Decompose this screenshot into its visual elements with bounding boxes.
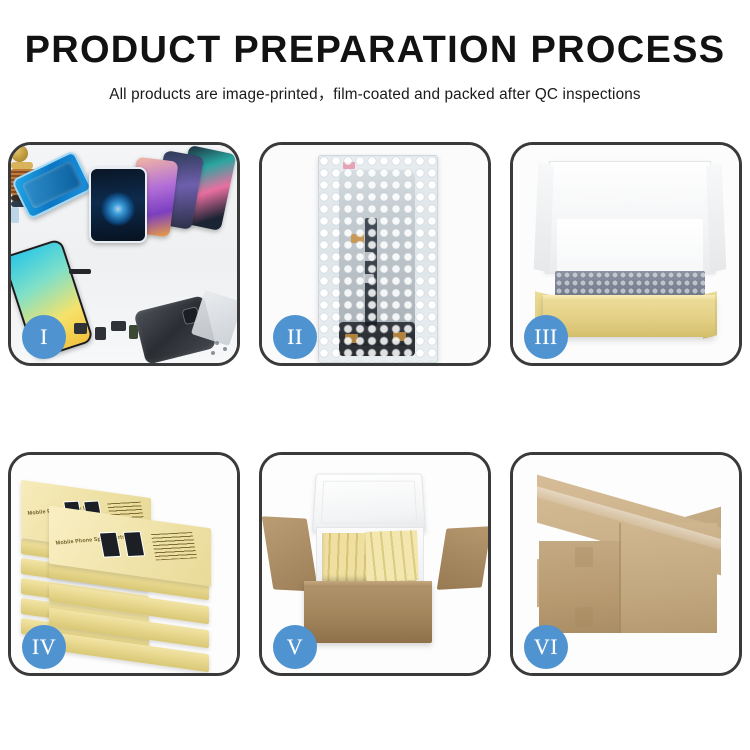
- carton-front-panel: [304, 581, 432, 643]
- carton-flap-mark-top: [575, 547, 593, 567]
- box-thumbnail-front-2: [123, 531, 145, 557]
- step-badge-1: I: [22, 315, 66, 359]
- step-badge-5: V: [273, 625, 317, 669]
- screen-flex-cable: [365, 218, 377, 326]
- bubble-wrap-bag: [318, 155, 438, 363]
- screw-2: [223, 347, 227, 351]
- screen-connector-1: [363, 252, 374, 261]
- spare-part-bar: [69, 269, 91, 274]
- page-header: PRODUCT PREPARATION PROCESS All products…: [0, 0, 750, 104]
- screen-connector-2: [363, 274, 374, 283]
- inner-boxes-row-2: [365, 530, 419, 582]
- step-badge-6: VI: [524, 625, 568, 669]
- step-badge-3: III: [524, 315, 568, 359]
- wrapped-screen-assembly: [339, 170, 415, 346]
- process-step-card-4[interactable]: Mobile Phone Spare Parts Mobile Phone Sp…: [8, 452, 240, 676]
- process-step-card-3[interactable]: III: [510, 142, 742, 366]
- box-spec-lines-front: [151, 532, 197, 560]
- process-step-card-1[interactable]: I: [8, 142, 240, 366]
- carton-corner-seam: [619, 523, 621, 633]
- kraft-box-base: [543, 295, 715, 337]
- spare-part-chip-3: [111, 321, 126, 331]
- process-steps-grid: I II: [8, 142, 742, 676]
- process-step-card-5[interactable]: V: [259, 452, 491, 676]
- spare-part-flex-cable-1: [11, 162, 33, 169]
- page-title: PRODUCT PREPARATION PROCESS: [0, 31, 750, 69]
- process-step-card-6[interactable]: VI: [510, 452, 742, 676]
- screw-3: [211, 351, 215, 355]
- spare-part-chip-2: [95, 327, 106, 340]
- styrofoam-lid: [312, 474, 426, 533]
- spare-part-speaker-coil: [11, 145, 28, 162]
- step-badge-4: IV: [22, 625, 66, 669]
- page-subtitle: All products are image-printed，film-coat…: [0, 69, 750, 104]
- copper-tape-1: [351, 234, 364, 243]
- screw-1: [215, 341, 219, 345]
- carton-flap-right: [437, 526, 488, 590]
- copper-tape-2: [345, 334, 358, 343]
- spare-part-chip-1: [74, 323, 87, 334]
- process-step-card-2[interactable]: II: [259, 142, 491, 366]
- glass-screen-protector: [89, 167, 147, 243]
- copper-tape-3: [393, 332, 406, 341]
- white-foam-sheet: [557, 219, 703, 275]
- spare-part-capacitor: [11, 207, 19, 223]
- step-badge-2: II: [273, 315, 317, 359]
- pink-label-sticker: [343, 162, 355, 169]
- carton-flap-mark-bottom: [575, 607, 593, 627]
